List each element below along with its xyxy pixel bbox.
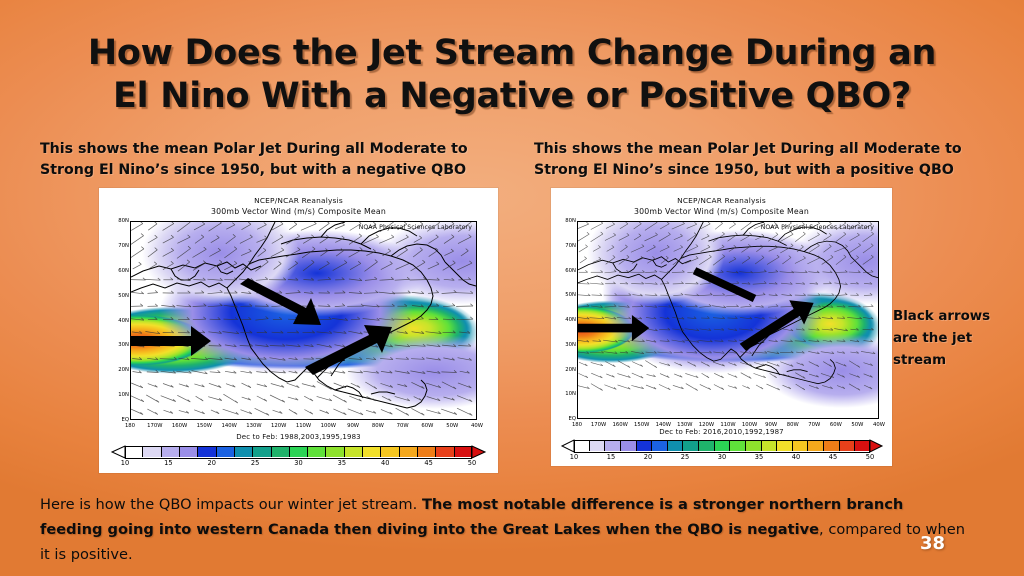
arrow-pacific-jet-entrance-right	[577, 315, 649, 341]
colorbar-tick-label: 10	[570, 453, 578, 461]
x-axis-tick-label: 50W	[446, 423, 458, 429]
map-left-plot-area: NOAA Physical Sciences Laboratory	[130, 221, 477, 420]
map-left-date-string: Dec to Feb: 1988,2003,1995,1983	[99, 433, 498, 441]
colorbar-tick-label: 10	[121, 459, 129, 467]
colorbar-swatch	[824, 440, 840, 451]
y-axis-tick-label: 80N	[115, 218, 129, 224]
map-right-plot-area: NOAA Physical Sciences Laboratory	[577, 221, 879, 419]
title-line-2: El Nino With a Negative or Positive QBO?	[60, 75, 964, 118]
colorbar-swatch	[198, 446, 216, 457]
colorbar-swatch	[605, 440, 621, 451]
colorbar-tick-label: 30	[718, 453, 726, 461]
x-axis-tick-label: 130W	[677, 422, 692, 428]
y-axis-tick-label: 80N	[562, 218, 576, 224]
colorbar-tick-label: 50	[866, 453, 874, 461]
colorbar-swatch	[455, 446, 472, 457]
x-axis-tick-label: 130W	[246, 423, 261, 429]
colorbar-swatch	[574, 440, 590, 451]
y-axis-tick-label: 30N	[115, 342, 129, 348]
colorbar-swatch	[855, 440, 870, 451]
colorbar-tick-label: 40	[381, 459, 389, 467]
map-right-colorbar: 101520253035404550	[562, 440, 882, 464]
y-axis-tick-label: 20N	[562, 367, 576, 373]
colorbar-tick-label: 15	[607, 453, 615, 461]
x-axis-tick-label: 80W	[372, 423, 384, 429]
x-axis-tick-label: 90W	[765, 422, 777, 428]
y-axis-tick-label: 70N	[562, 243, 576, 249]
colorbar-tick-label: 50	[468, 459, 476, 467]
y-axis-tick-label: 60N	[115, 268, 129, 274]
colorbar-swatch	[418, 446, 436, 457]
colorbar-tick-label: 35	[755, 453, 763, 461]
colorbar-swatch	[400, 446, 418, 457]
x-axis-tick-label: 150W	[197, 423, 212, 429]
colorbar-swatch	[652, 440, 668, 451]
page-title: How Does the Jet Stream Change During an…	[60, 32, 964, 118]
y-axis-tick-label: 70N	[115, 243, 129, 249]
colorbar-swatch	[637, 440, 653, 451]
colorbar-swatch	[699, 440, 715, 451]
colorbar-swatch	[793, 440, 809, 451]
page-number: 38	[920, 533, 945, 554]
map-right-date-string: Dec to Feb: 2016,2010,1992,1987	[551, 428, 892, 436]
x-axis-tick-label: 90W	[347, 423, 359, 429]
x-axis-tick-label: 110W	[720, 422, 735, 428]
y-axis-tick-label: 50N	[115, 293, 129, 299]
x-axis-tick-label: 40W	[873, 422, 885, 428]
map-left-colorbar: 101520253035404550	[112, 446, 485, 470]
colorbar-swatch	[363, 446, 381, 457]
colorbar-tick-label: 40	[792, 453, 800, 461]
map-left-title-line1: NCEP/NCAR Reanalysis	[99, 196, 498, 205]
x-axis-tick-label: 140W	[221, 423, 236, 429]
arrow-pacific-jet-entrance-left	[130, 326, 211, 356]
colorbar-swatch	[217, 446, 235, 457]
map-left-title-line2: 300mb Vector Wind (m/s) Composite Mean	[99, 207, 498, 216]
x-axis-tick-label: 180	[125, 423, 135, 429]
y-axis-tick-label: 10N	[562, 391, 576, 397]
map-panel-positive-qbo: NCEP/NCAR Reanalysis 300mb Vector Wind (…	[551, 188, 892, 466]
colorbar-tick-label: 15	[164, 459, 172, 467]
colorbar-tick-label: 35	[338, 459, 346, 467]
x-axis-tick-label: 50W	[851, 422, 863, 428]
map-right-title-line2: 300mb Vector Wind (m/s) Composite Mean	[551, 207, 892, 216]
colorbar-swatch	[308, 446, 326, 457]
x-axis-tick-label: 170W	[591, 422, 606, 428]
colorbar-tick-label: 25	[681, 453, 689, 461]
colorbar-swatch	[668, 440, 684, 451]
colorbar-swatch	[253, 446, 271, 457]
y-axis-tick-label: 60N	[562, 268, 576, 274]
x-axis-tick-label: 100W	[321, 423, 336, 429]
colorbar-swatch	[345, 446, 363, 457]
x-axis-tick-label: 120W	[699, 422, 714, 428]
colorbar-swatch	[730, 440, 746, 451]
colorbar-tick-label: 20	[208, 459, 216, 467]
colorbar-swatch	[590, 440, 606, 451]
x-axis-tick-label: 40W	[471, 423, 483, 429]
x-axis-tick-label: 120W	[271, 423, 286, 429]
colorbar-swatch	[762, 440, 778, 451]
colorbar-swatch	[715, 440, 731, 451]
colorbar-swatch	[621, 440, 637, 451]
y-axis-tick-label: 30N	[562, 342, 576, 348]
arrow-southern-branch-left	[305, 325, 392, 375]
y-axis-tick-label: 40N	[562, 317, 576, 323]
x-axis-tick-label: 60W	[421, 423, 433, 429]
y-axis-tick-label: 40N	[115, 318, 129, 324]
colorbar-swatch	[808, 440, 824, 451]
map-right-jet-arrows	[578, 222, 878, 393]
x-axis-tick-label: 70W	[397, 423, 409, 429]
x-axis-tick-label: 140W	[656, 422, 671, 428]
colorbar-tick-label: 25	[251, 459, 259, 467]
colorbar-swatch	[436, 446, 454, 457]
jet-stream-annotation: Black arrows are the jet stream	[893, 306, 1013, 372]
colorbar-tick-label: 20	[644, 453, 652, 461]
colorbar-tick-label: 45	[829, 453, 837, 461]
x-axis-tick-label: 170W	[147, 423, 162, 429]
colorbar-swatch	[326, 446, 344, 457]
line-weak-northern-branch-right	[693, 267, 756, 302]
x-axis-tick-label: 160W	[612, 422, 627, 428]
map-panel-negative-qbo: NCEP/NCAR Reanalysis 300mb Vector Wind (…	[99, 188, 498, 473]
arrow-southern-branch-right	[740, 300, 814, 350]
colorbar-swatch	[840, 440, 856, 451]
colorbar-swatch	[290, 446, 308, 457]
colorbar-swatch	[125, 446, 143, 457]
y-axis-tick-label: 20N	[115, 367, 129, 373]
x-axis-tick-label: 160W	[172, 423, 187, 429]
colorbar-swatch	[162, 446, 180, 457]
colorbar-swatch	[746, 440, 762, 451]
colorbar-tick-label: 45	[424, 459, 432, 467]
colorbar-swatch	[235, 446, 253, 457]
x-axis-tick-label: 80W	[787, 422, 799, 428]
map-left-jet-arrows	[131, 222, 476, 419]
colorbar-swatch	[777, 440, 793, 451]
x-axis-tick-label: 150W	[634, 422, 649, 428]
footer-paragraph: Here is how the QBO impacts our winter j…	[40, 492, 970, 567]
footer-part-1: Here is how the QBO impacts our winter j…	[40, 496, 422, 513]
arrow-northern-branch-left	[240, 278, 321, 325]
x-axis-tick-label: 100W	[742, 422, 757, 428]
title-line-1: How Does the Jet Stream Change During an	[88, 33, 936, 73]
caption-right-map: This shows the mean Polar Jet During all…	[534, 139, 1004, 181]
colorbar-swatch	[143, 446, 161, 457]
x-axis-tick-label: 70W	[808, 422, 820, 428]
colorbar-swatch	[180, 446, 198, 457]
y-axis-tick-label: 50N	[562, 292, 576, 298]
caption-left-map: This shows the mean Polar Jet During all…	[40, 139, 510, 181]
colorbar-swatch	[381, 446, 399, 457]
map-right-title-line1: NCEP/NCAR Reanalysis	[551, 196, 892, 205]
colorbar-tick-label: 30	[294, 459, 302, 467]
y-axis-tick-label: 10N	[115, 392, 129, 398]
colorbar-swatch	[272, 446, 290, 457]
x-axis-tick-label: 110W	[296, 423, 311, 429]
colorbar-swatch	[683, 440, 699, 451]
map-left-noaa-credit: NOAA Physical Sciences Laboratory	[359, 224, 472, 231]
x-axis-tick-label: 180	[572, 422, 582, 428]
map-right-noaa-credit: NOAA Physical Sciences Laboratory	[761, 224, 874, 231]
slide-canvas: How Does the Jet Stream Change During an…	[0, 0, 1024, 576]
x-axis-tick-label: 60W	[830, 422, 842, 428]
